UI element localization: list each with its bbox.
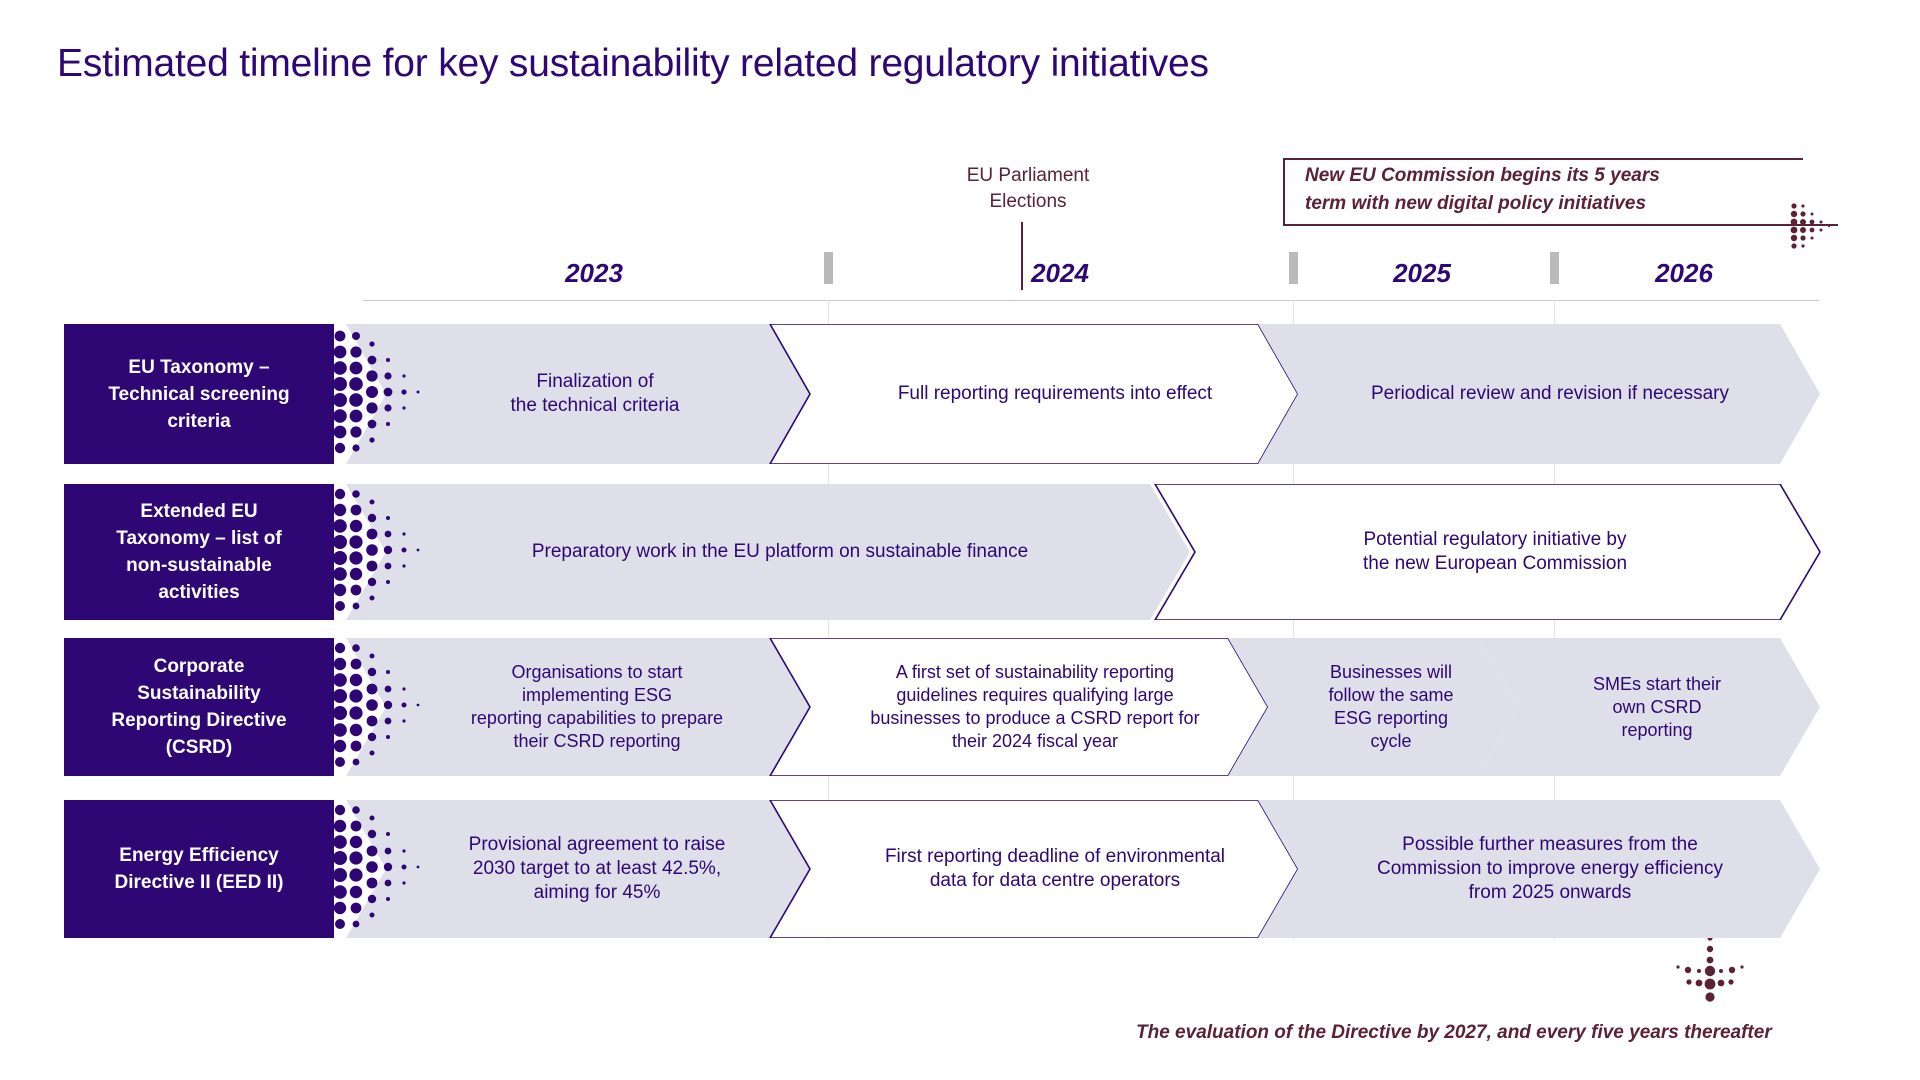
chevron-r1-p3 (1258, 324, 1820, 464)
chevron-r1-p2 (770, 324, 1298, 464)
annotation-eu-parliament-elections: EU Parliament Elections (938, 163, 1118, 215)
axis-tick-2024-2025 (1289, 252, 1298, 284)
row-label-text: Corporate Sustainability Reporting Direc… (111, 653, 286, 761)
halftone-fade-row-4 (334, 800, 444, 938)
row-label-eu-taxonomy: EU Taxonomy – Technical screening criter… (64, 324, 334, 464)
page-title: Estimated timeline for key sustainabilit… (57, 42, 1209, 86)
row-label-csrd: Corporate Sustainability Reporting Direc… (64, 638, 334, 776)
axis-tick-2023-2024 (824, 252, 833, 284)
timeline-row-eu-taxonomy: EU Taxonomy – Technical screening criter… (0, 324, 1920, 464)
row-label-extended-eu-taxonomy: Extended EU Taxonomy – list of non-susta… (64, 484, 334, 620)
commission-line-2: term with new digital policy initiatives (1305, 190, 1735, 218)
year-label-2024: 2024 (990, 258, 1130, 289)
row-label-eed2: Energy Efficiency Directive II (EED II) (64, 800, 334, 938)
halftone-fade-row-3 (334, 638, 444, 776)
row-label-text: Energy Efficiency Directive II (EED II) (115, 842, 284, 896)
timeline-row-eed2: Energy Efficiency Directive II (EED II) … (0, 800, 1920, 938)
halftone-fade-row-1 (334, 324, 444, 464)
axis-tick-2025-2026 (1550, 252, 1559, 284)
footnote-text: The evaluation of the Directive by 2027,… (1136, 1022, 1772, 1044)
chevron-r4-p2 (770, 800, 1298, 938)
chevron-r3-p3 (1228, 638, 1518, 776)
chevron-r2-p2 (1155, 484, 1820, 620)
elections-line-1: EU Parliament (938, 163, 1118, 189)
year-label-2023: 2023 (524, 258, 664, 289)
timeline-row-extended-eu-taxonomy: Extended EU Taxonomy – list of non-susta… (0, 484, 1920, 620)
row-label-text: Extended EU Taxonomy – list of non-susta… (116, 498, 281, 606)
elections-line-2: Elections (938, 189, 1118, 215)
diagram-canvas: Estimated timeline for key sustainabilit… (0, 0, 1920, 1080)
chevron-r3-p2 (770, 638, 1268, 776)
commission-line-1: New EU Commission begins its 5 years (1305, 162, 1735, 190)
dot-arrow-right-icon (1786, 196, 1846, 256)
chevron-r3-p4 (1478, 638, 1820, 776)
halftone-fade-row-2 (334, 484, 444, 620)
chevron-r2-p1 (346, 484, 1190, 620)
timeline-row-csrd: Corporate Sustainability Reporting Direc… (0, 638, 1920, 776)
timeline-axis (363, 300, 1819, 301)
year-label-2025: 2025 (1352, 258, 1492, 289)
row-label-text: EU Taxonomy – Technical screening criter… (108, 354, 289, 435)
year-label-2026: 2026 (1614, 258, 1754, 289)
annotation-new-eu-commission: New EU Commission begins its 5 years ter… (1305, 162, 1735, 218)
chevron-r4-p3 (1258, 800, 1820, 938)
